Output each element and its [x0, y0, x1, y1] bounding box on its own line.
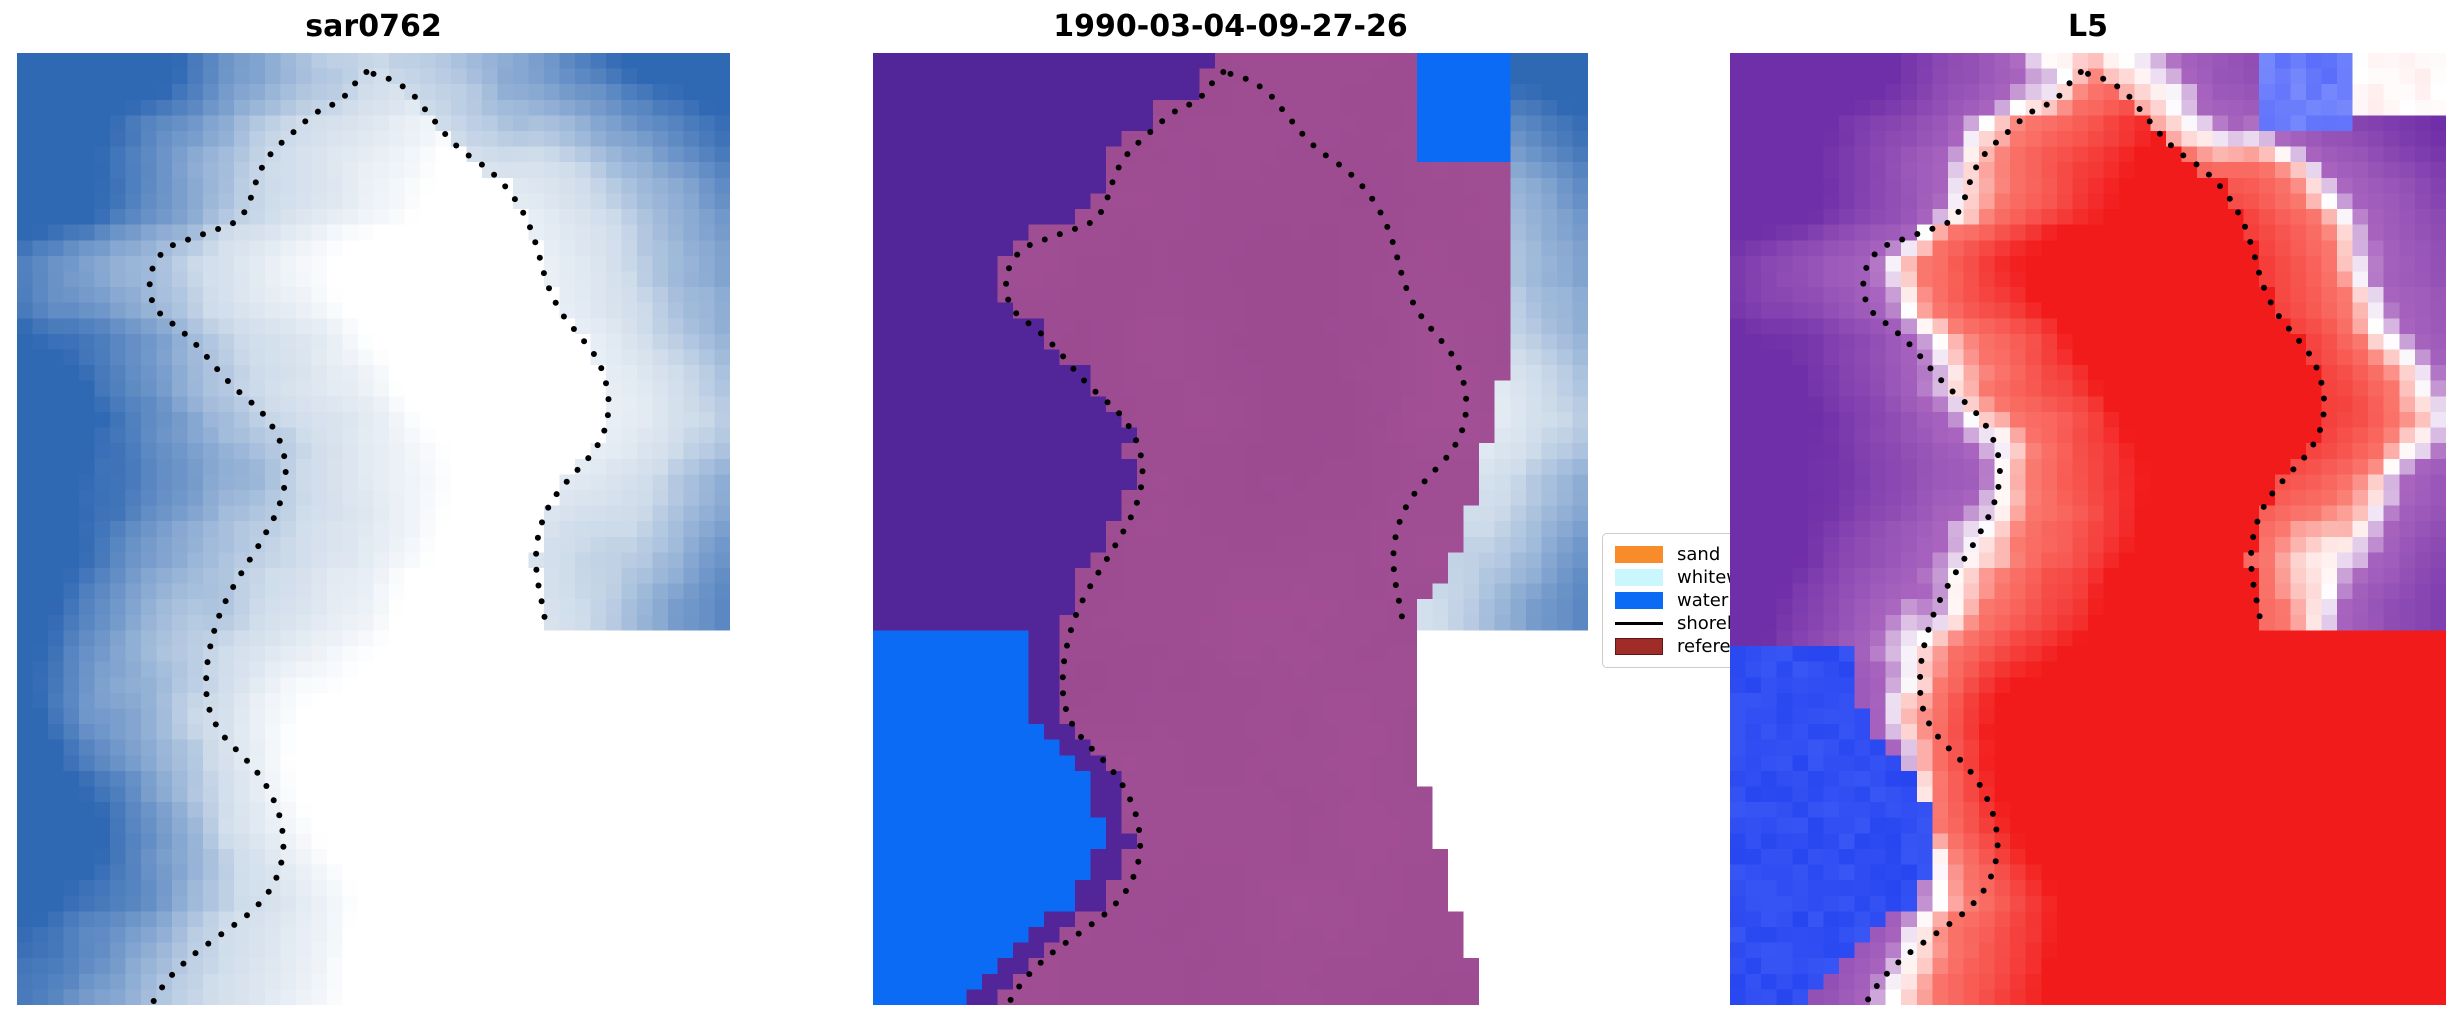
legend-swatch-sand-icon [1615, 546, 1663, 563]
legend-label: reference shoreline [1677, 637, 1730, 657]
legend-swatch-reference-shoreline-icon [1615, 638, 1663, 655]
legend-item-sand[interactable]: sand [1615, 543, 1730, 566]
panel-title-l5: L5 [1730, 4, 2446, 50]
legend-clip: sandwhitewaterwatershorelinereference sh… [1602, 533, 1730, 668]
panel-classification [873, 53, 1588, 1005]
legend-label: shoreline [1677, 614, 1730, 634]
legend: sandwhitewaterwatershorelinereference sh… [1602, 533, 1730, 668]
classification-panel-canvas [873, 53, 1588, 1005]
legend-label: water [1677, 591, 1728, 611]
panel-title-sar: sar0762 [17, 4, 730, 50]
sar-panel-canvas [17, 53, 730, 1005]
legend-label: sand [1677, 545, 1720, 565]
legend-item-shoreline[interactable]: shoreline [1615, 612, 1730, 635]
figure-root: sar0762 1990-03-04-09-27-26 L5 sandwhite… [0, 0, 2460, 1021]
legend-item-water[interactable]: water [1615, 589, 1730, 612]
legend-label: whitewater [1677, 568, 1730, 588]
l5-panel-canvas [1730, 53, 2446, 1005]
panel-title-classification: 1990-03-04-09-27-26 [873, 4, 1588, 50]
legend-item-reference-shoreline[interactable]: reference shoreline [1615, 635, 1730, 658]
legend-swatch-whitewater-icon [1615, 569, 1663, 586]
legend-item-whitewater[interactable]: whitewater [1615, 566, 1730, 589]
shoreline-line-icon [1615, 615, 1663, 632]
panel-l5 [1730, 53, 2446, 1005]
legend-swatch-water-icon [1615, 592, 1663, 609]
panel-sar [17, 53, 730, 1005]
